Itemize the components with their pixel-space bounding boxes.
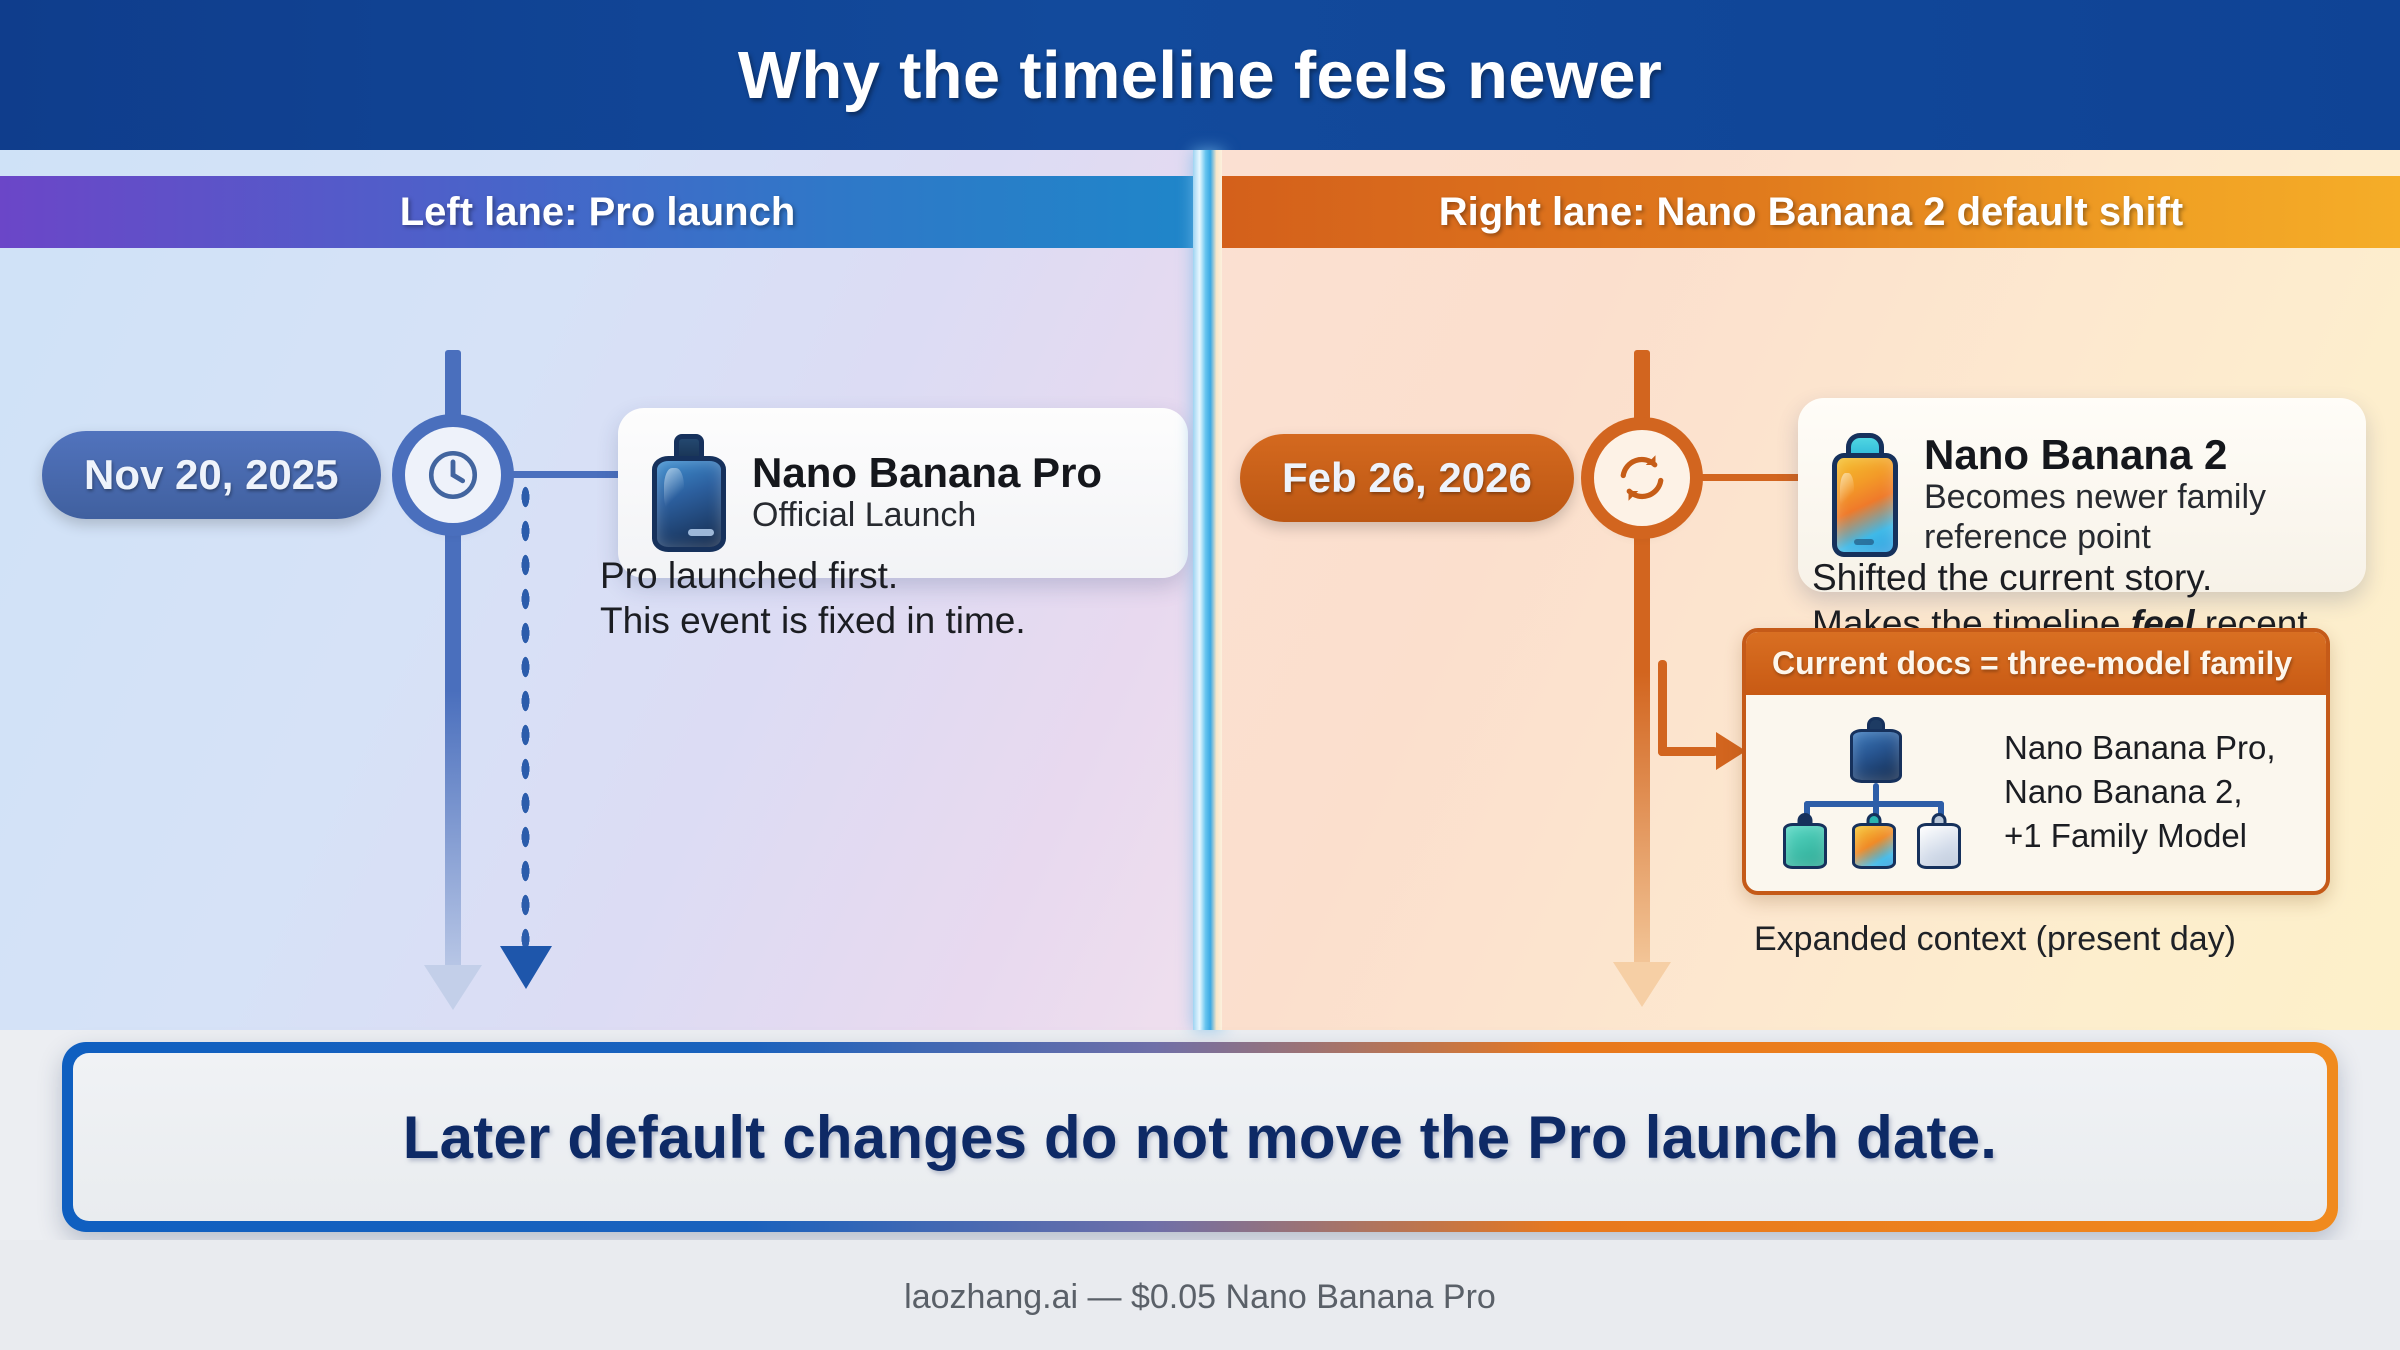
docs-panel-line-2: Nano Banana 2, bbox=[2004, 770, 2276, 814]
infographic-canvas: Why the timeline feels newer Left lane: … bbox=[0, 0, 2400, 1350]
lane-divider bbox=[1193, 150, 1223, 1030]
tree-child-orange-device-icon bbox=[1852, 813, 1896, 869]
date-badge-right[interactable]: Feb 26, 2026 bbox=[1240, 434, 1574, 522]
note-left-line-2: This event is fixed in time. bbox=[600, 595, 1026, 648]
event-card-left-subtitle: Official Launch bbox=[752, 495, 1102, 535]
node-card-connector-left bbox=[499, 471, 619, 478]
device-orange-icon bbox=[1832, 433, 1898, 557]
lane-right-header: Right lane: Nano Banana 2 default shift bbox=[1222, 176, 2400, 248]
clock-icon bbox=[424, 446, 482, 504]
refresh-sync-icon bbox=[1612, 448, 1672, 508]
lane-right-header-label: Right lane: Nano Banana 2 default shift bbox=[1439, 190, 2184, 235]
docs-panel-heading: Current docs = three-model family bbox=[1746, 632, 2326, 695]
tree-child-silver-device-icon bbox=[1917, 813, 1961, 869]
dotted-connector-arrowhead-left bbox=[500, 946, 552, 989]
footer-text: laozhang.ai — $0.05 Nano Banana Pro bbox=[904, 1278, 1496, 1317]
tree-parent-device-icon bbox=[1850, 717, 1902, 783]
device-blue-icon bbox=[652, 434, 726, 552]
timeline-arrow-left bbox=[424, 965, 482, 1010]
conclusion-banner-text: Later default changes do not move the Pr… bbox=[403, 1103, 1997, 1172]
event-card-right-subtitle-line-1: Becomes newer family bbox=[1924, 477, 2266, 517]
lane-right: Right lane: Nano Banana 2 default shift … bbox=[1222, 150, 2400, 1030]
date-badge-right-label: Feb 26, 2026 bbox=[1282, 454, 1532, 502]
conclusion-banner: Later default changes do not move the Pr… bbox=[62, 1042, 2338, 1232]
docs-panel[interactable]: Current docs = three-model family bbox=[1742, 628, 2330, 895]
model-family-tree-icon bbox=[1776, 717, 1976, 867]
docs-panel-line-3: +1 Family Model bbox=[2004, 814, 2276, 858]
footer: laozhang.ai — $0.05 Nano Banana Pro bbox=[0, 1240, 2400, 1350]
date-badge-left[interactable]: Nov 20, 2025 bbox=[42, 431, 381, 519]
page-title: Why the timeline feels newer bbox=[738, 37, 1662, 114]
timeline-node-right[interactable] bbox=[1594, 430, 1690, 526]
tree-child-teal-device-icon bbox=[1783, 813, 1827, 869]
docs-panel-caption: Expanded context (present day) bbox=[1754, 920, 2236, 959]
docs-panel-line-1: Nano Banana Pro, bbox=[2004, 726, 2276, 770]
event-card-left-title: Nano Banana Pro bbox=[752, 451, 1102, 496]
node-card-connector-right bbox=[1688, 474, 1798, 481]
timeline-node-left[interactable] bbox=[405, 427, 501, 523]
dotted-connector-left bbox=[519, 480, 532, 950]
conclusion-banner-inner: Later default changes do not move the Pr… bbox=[73, 1053, 2327, 1221]
lane-left-header-label: Left lane: Pro launch bbox=[400, 190, 796, 235]
title-bar: Why the timeline feels newer bbox=[0, 0, 2400, 150]
timeline-arrow-right bbox=[1613, 962, 1671, 1007]
docs-panel-body: Nano Banana Pro, Nano Banana 2, +1 Famil… bbox=[1746, 695, 2326, 891]
lane-left: Left lane: Pro launch Nov 20, 2025 bbox=[0, 150, 1195, 1030]
lane-left-header: Left lane: Pro launch bbox=[0, 176, 1195, 248]
date-badge-left-label: Nov 20, 2025 bbox=[84, 451, 339, 499]
event-card-right-title: Nano Banana 2 bbox=[1924, 433, 2266, 478]
note-right-line-1: Shifted the current story. bbox=[1812, 552, 2212, 605]
